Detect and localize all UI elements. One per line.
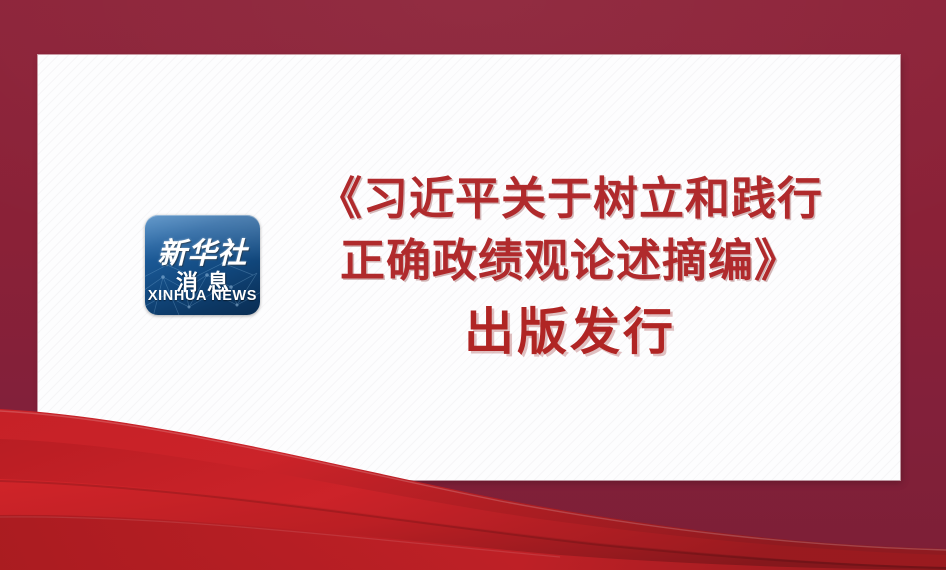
headline-line-2: 正确政绩观论述摘编》 [290, 230, 850, 292]
headline-block: 《习近平关于树立和践行 正确政绩观论述摘编》 出版发行 [290, 168, 850, 362]
poster-root: 新华社 消息 XINHUA NEWS 《习近平关于树立和践行 正确政绩观论述摘编… [0, 0, 946, 570]
red-ribbon-decoration [0, 395, 946, 570]
xinhua-news-logo: 新华社 消息 XINHUA NEWS [145, 215, 260, 315]
logo-english-label: XINHUA NEWS [145, 288, 260, 304]
headline-line-3: 出版发行 [290, 302, 850, 362]
headline-line-1: 《习近平关于树立和践行 [290, 168, 850, 230]
ribbon-waves-svg [0, 395, 946, 570]
